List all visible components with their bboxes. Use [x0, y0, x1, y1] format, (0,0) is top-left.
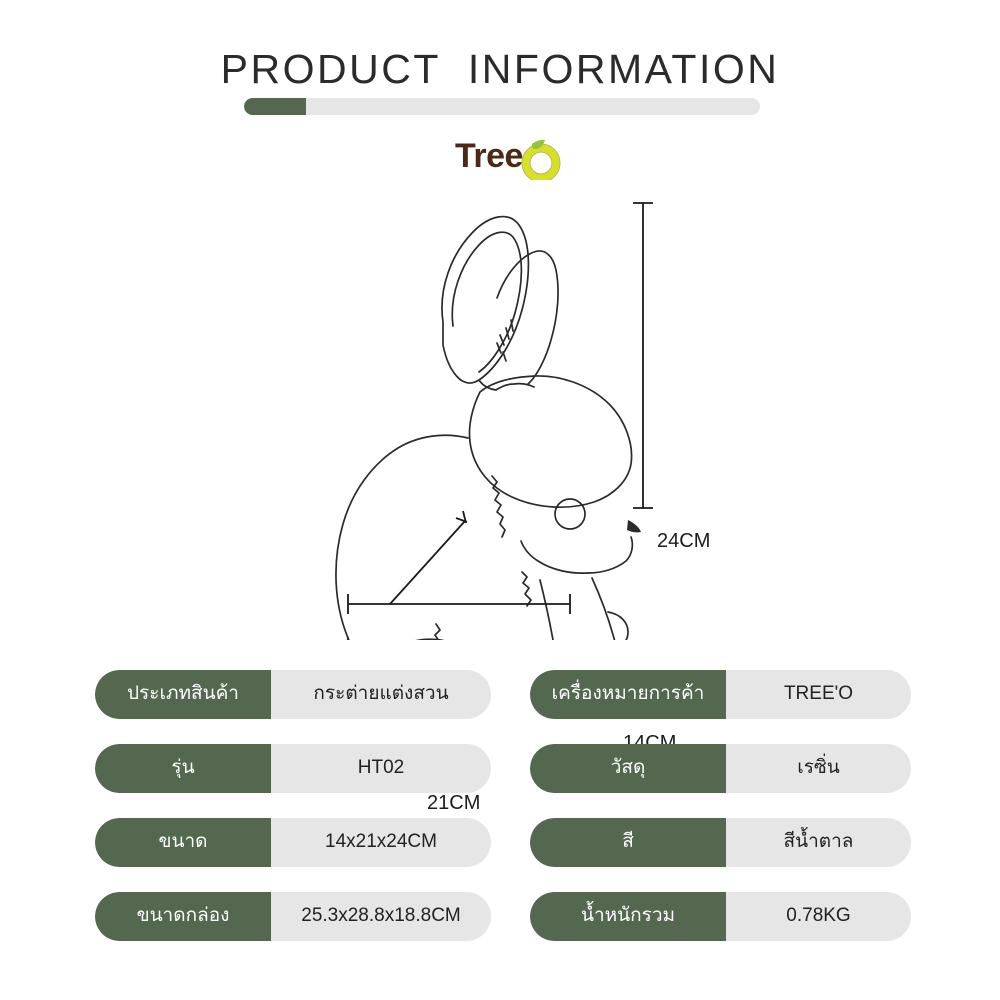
brand-logo-text: Tree [455, 136, 523, 176]
spec-key: สี [530, 818, 726, 867]
spec-key: ขนาดกล่อง [95, 892, 271, 941]
spec-key: รุ่น [95, 744, 271, 793]
title-progress-bar-fill [244, 98, 306, 115]
spec-key: ขนาด [95, 818, 271, 867]
dimension-line-width [348, 594, 570, 614]
o-ring-leaf-icon [518, 138, 562, 180]
spec-value: กระต่ายแต่งสวน [271, 670, 491, 719]
spec-value: 0.78KG [726, 892, 911, 941]
brand-logo: Tree [455, 134, 565, 180]
spec-row: น้ำหนักรวม 0.78KG [530, 892, 911, 941]
dimension-label-width: 21CM [427, 792, 480, 815]
dimension-line-depth [390, 511, 467, 604]
page-title: PRODUCT INFORMATION [0, 46, 1000, 93]
spec-value: 25.3x28.8x18.8CM [271, 892, 491, 941]
spec-row: เครื่องหมายการค้า TREE'O [530, 670, 911, 719]
spec-key: เครื่องหมายการค้า [530, 670, 726, 719]
spec-value: 14x21x24CM [271, 818, 491, 867]
spec-row: วัสดุ เรซิ่น [530, 744, 911, 793]
spec-value: เรซิ่น [726, 744, 911, 793]
spec-value: TREE'O [726, 670, 911, 719]
spec-row: ประเภทสินค้า กระต่ายแต่งสวน [95, 670, 491, 719]
spec-key: วัสดุ [530, 744, 726, 793]
spec-row: สี สีน้ำตาล [530, 818, 911, 867]
spec-value: HT02 [271, 744, 491, 793]
spec-key: ประเภทสินค้า [95, 670, 271, 719]
spec-row: รุ่น HT02 [95, 744, 491, 793]
dimension-label-height: 24CM [657, 530, 710, 553]
title-progress-bar [244, 98, 760, 115]
dimension-line-height [633, 203, 653, 508]
product-information-page: PRODUCT INFORMATION Tree [0, 0, 1000, 1000]
spec-key: น้ำหนักรวม [530, 892, 726, 941]
spec-row: ขนาดกล่อง 25.3x28.8x18.8CM [95, 892, 491, 941]
rabbit-line-art [0, 180, 1000, 640]
spec-value: สีน้ำตาล [726, 818, 911, 867]
product-illustration: 24CM 14CM 21CM [0, 180, 1000, 640]
spec-row: ขนาด 14x21x24CM [95, 818, 491, 867]
